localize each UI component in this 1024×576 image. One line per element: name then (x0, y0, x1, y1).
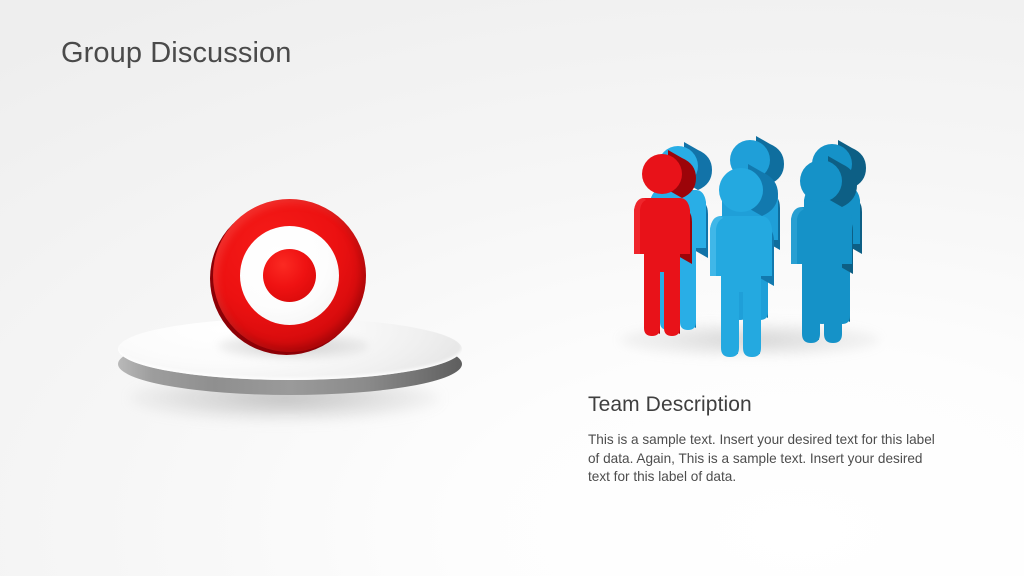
bullseye-center-dot (263, 249, 316, 302)
target-illustration[interactable] (110, 185, 480, 430)
team-description-block: Team Description This is a sample text. … (588, 392, 948, 487)
slide-canvas: Group Discussion (0, 0, 1024, 576)
bullseye-target-icon[interactable] (213, 199, 366, 352)
people-illustration[interactable] (612, 128, 892, 368)
team-description-body: This is a sample text. Insert your desir… (588, 431, 940, 487)
page-title: Group Discussion (61, 37, 291, 70)
team-description-heading: Team Description (588, 392, 948, 417)
person-figure-front-right (778, 150, 868, 350)
